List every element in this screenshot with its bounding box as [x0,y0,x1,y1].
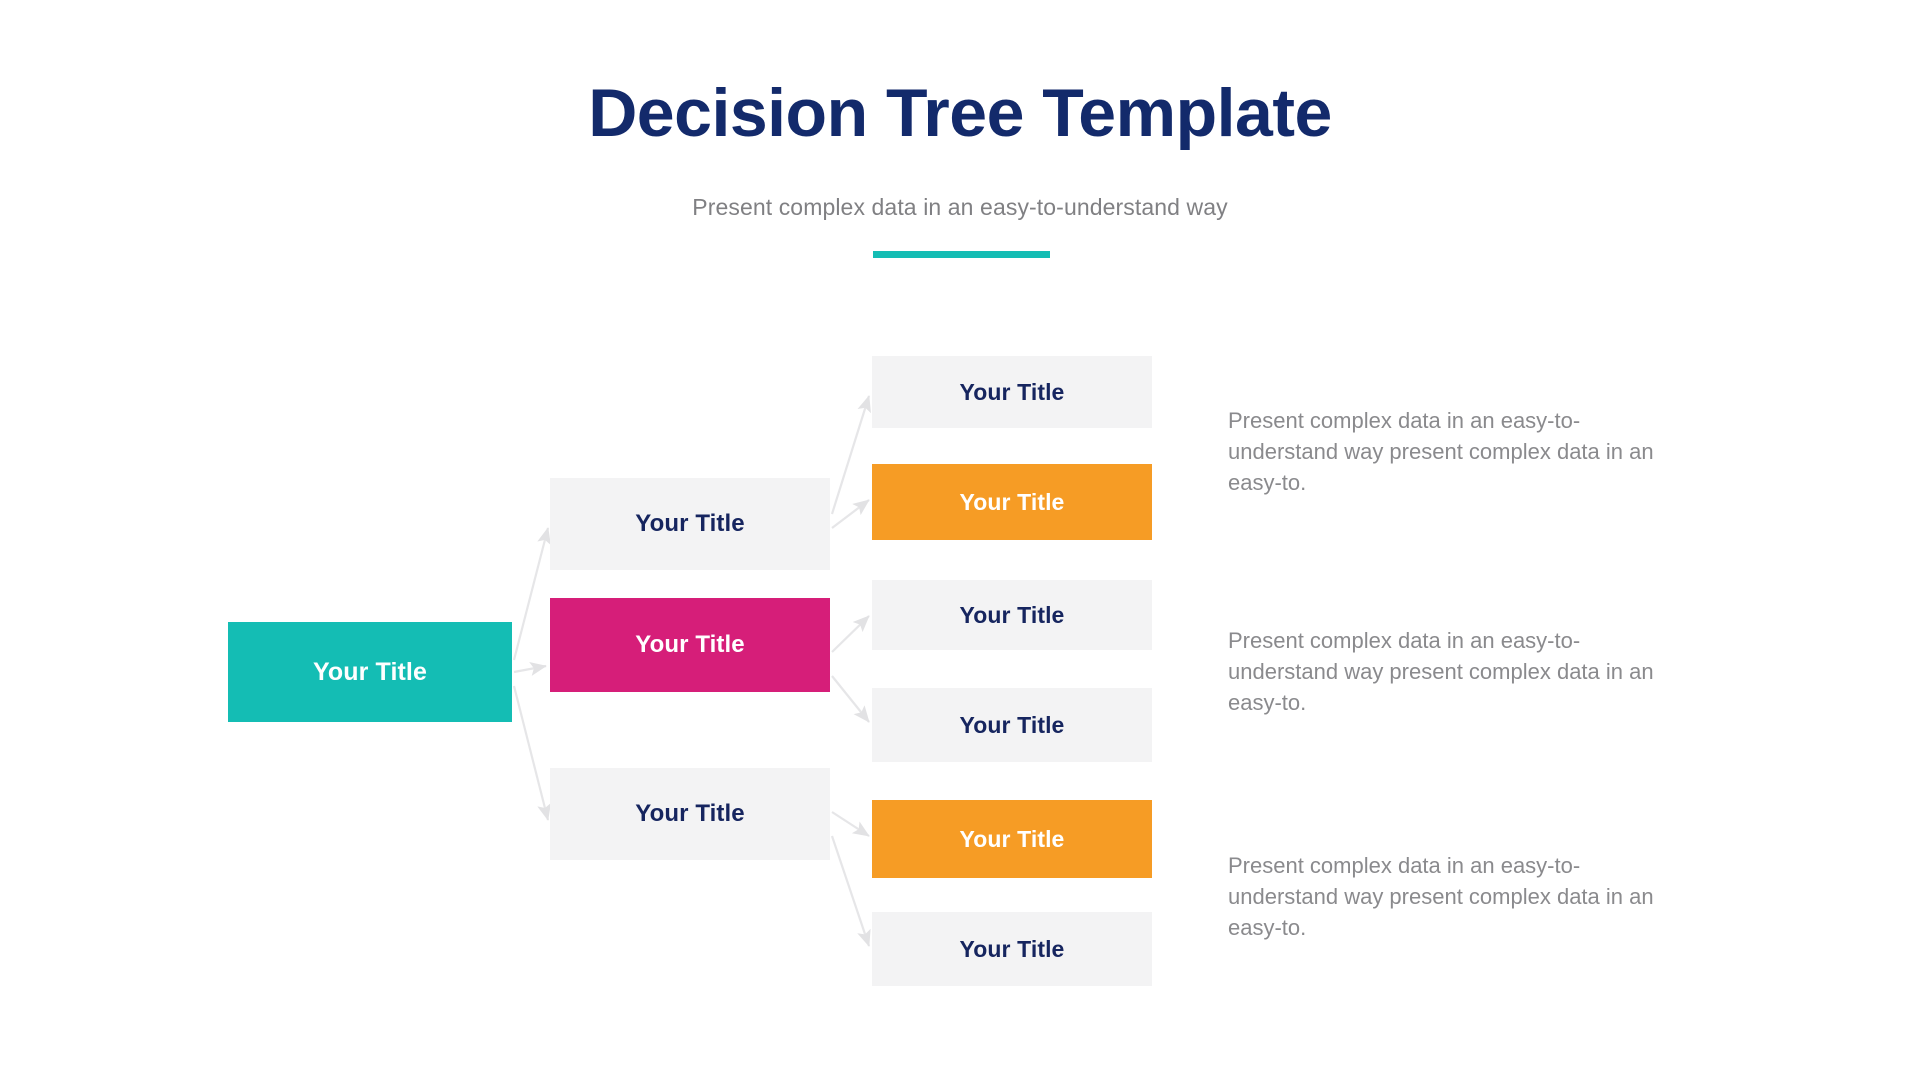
description-2: Present complex data in an easy-to-under… [1228,625,1668,718]
node-leaf-5[interactable]: Your Title [872,800,1152,878]
node-root[interactable]: Your Title [228,622,512,722]
connector-root-to-branch-2 [514,666,546,672]
node-branch-3[interactable]: Your Title [550,768,830,860]
description-3: Present complex data in an easy-to-under… [1228,850,1668,943]
node-leaf-6[interactable]: Your Title [872,912,1152,986]
connector-root-to-branch-1 [514,528,548,660]
node-branch-1[interactable]: Your Title [550,478,830,570]
node-leaf-4[interactable]: Your Title [872,688,1152,762]
node-branch-2[interactable]: Your Title [550,598,830,692]
connector-branch1-to-leaf-2 [832,500,869,528]
connector-branch1-to-leaf-1 [832,396,869,514]
node-leaf-3[interactable]: Your Title [872,580,1152,650]
node-leaf-2[interactable]: Your Title [872,464,1152,540]
connector-branch2-to-leaf-3 [832,616,869,652]
connector-branch2-to-leaf-4 [832,676,869,722]
connector-branch3-to-leaf-5 [832,812,869,836]
description-1: Present complex data in an easy-to-under… [1228,405,1668,498]
node-leaf-1[interactable]: Your Title [872,356,1152,428]
connector-branch3-to-leaf-6 [832,836,869,946]
connector-root-to-branch-3 [514,686,548,820]
slide-canvas: Decision Tree Template Present complex d… [0,0,1920,1080]
